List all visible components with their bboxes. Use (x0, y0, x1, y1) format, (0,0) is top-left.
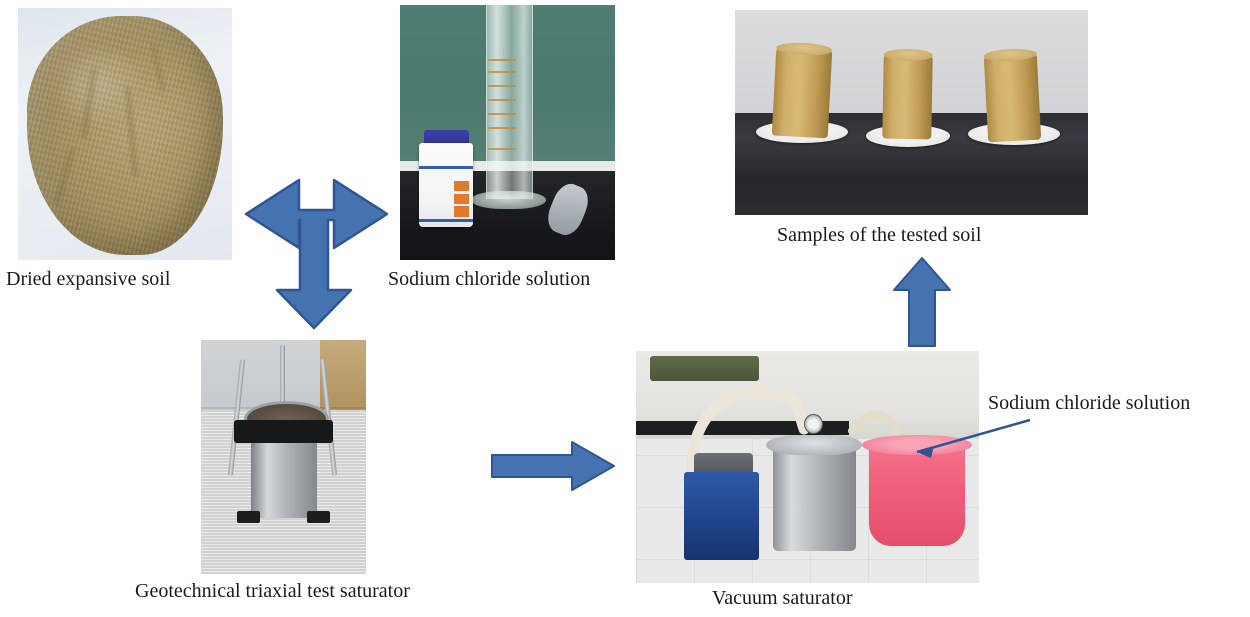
figure-canvas: Dried expansive soil Sodium chloride sol… (0, 0, 1250, 617)
annotation-sodium-chloride-solution: Sodium chloride solution (988, 392, 1190, 414)
leader-line (917, 420, 1030, 452)
bucket-callout-leader-line (0, 0, 1250, 617)
leader-arrowhead (917, 446, 934, 458)
